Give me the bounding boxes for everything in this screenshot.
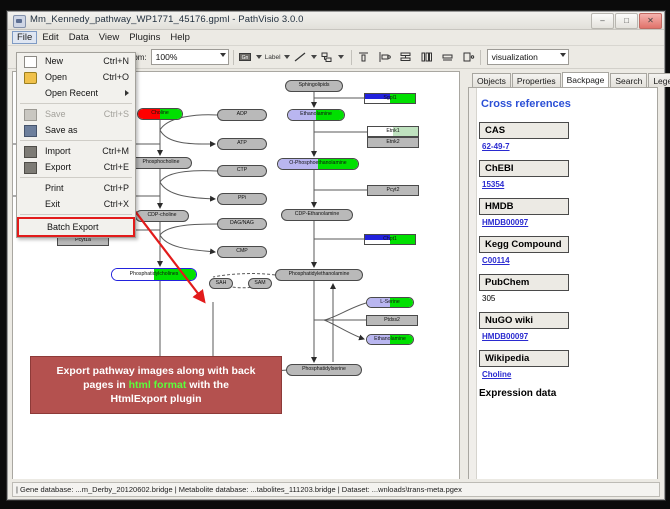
cross-reference-link[interactable]: 62-49-7 — [482, 142, 653, 151]
file-menu-accelerator: Ctrl+O — [103, 72, 129, 82]
cross-reference-row: Kegg CompoundC00114 — [479, 236, 653, 265]
file-menu-new[interactable]: NewCtrl+N — [17, 53, 135, 69]
zoom-value: 100% — [156, 52, 178, 62]
import-icon — [24, 146, 37, 158]
menu-separator — [20, 214, 132, 215]
file-menu-label: Import — [45, 146, 71, 156]
file-menu-label: Print — [45, 183, 64, 193]
cross-reference-row: WikipediaCholine — [479, 350, 653, 379]
file-menu-label: Save — [45, 109, 66, 119]
file-menu-label: Save as — [45, 125, 78, 135]
file-menu-export[interactable]: ExportCtrl+E — [17, 159, 135, 175]
side-panel-tabs: ObjectsPropertiesBackpageSearchLegend — [462, 71, 659, 87]
cross-reference-value: 305 — [482, 294, 653, 303]
file-menu-accelerator: Ctrl+N — [103, 56, 129, 66]
distribute-icon[interactable] — [419, 50, 434, 65]
save-icon — [24, 109, 37, 121]
window-title: Mm_Kennedy_pathway_WP1771_45176.gpml - P… — [30, 14, 304, 25]
cross-reference-row: NuGO wikiHMDB00097 — [479, 312, 653, 341]
app-icon — [13, 15, 26, 28]
file-menu-label: Export — [45, 162, 71, 172]
toolbar-separator — [233, 50, 234, 65]
svg-text:Gn: Gn — [242, 55, 249, 61]
file-menu-save[interactable]: SaveCtrl+S — [17, 106, 135, 122]
file-menu-open-recent[interactable]: Open Recent — [17, 85, 135, 101]
menu-item-view[interactable]: View — [94, 31, 124, 44]
toolbar-separator-2 — [351, 50, 352, 65]
chevron-right-icon — [125, 90, 129, 96]
zoom-combobox[interactable]: 100% — [151, 49, 229, 65]
file-menu-label: New — [45, 56, 63, 66]
menu-item-data[interactable]: Data — [64, 31, 94, 44]
tab-objects[interactable]: Objects — [472, 73, 511, 87]
file-menu-import[interactable]: ImportCtrl+M — [17, 143, 135, 159]
menu-item-help[interactable]: Help — [165, 31, 195, 44]
save-as-icon — [24, 125, 37, 137]
cross-reference-source: Kegg Compound — [479, 236, 569, 253]
cross-reference-link[interactable]: 15354 — [482, 180, 653, 189]
cross-reference-source: ChEBI — [479, 160, 569, 177]
close-icon: ✕ — [640, 17, 661, 25]
expression-data-heading: Expression data — [479, 388, 653, 399]
cross-reference-link[interactable]: Choline — [482, 370, 653, 379]
cross-reference-row: HMDBHMDB00097 — [479, 198, 653, 227]
file-menu-accelerator: Ctrl+S — [104, 109, 129, 119]
label-tool-label[interactable]: Label — [265, 54, 281, 61]
pathvisio-window: Mm_Kennedy_pathway_WP1771_45176.gpml - P… — [7, 11, 665, 500]
title-bar: Mm_Kennedy_pathway_WP1771_45176.gpml - P… — [8, 12, 664, 30]
backpage-content[interactable]: Cross references CAS62-49-7ChEBI15354HMD… — [468, 87, 658, 489]
align-top-icon[interactable] — [356, 50, 371, 65]
cross-references-heading: Cross references — [481, 98, 653, 110]
new-document-icon — [24, 56, 37, 68]
export-icon — [24, 162, 37, 174]
file-menu-print[interactable]: PrintCtrl+P — [17, 180, 135, 196]
cross-reference-row: CAS62-49-7 — [479, 122, 653, 151]
backpage-scrollbar[interactable] — [469, 88, 477, 488]
cross-reference-row: PubChem305 — [479, 274, 653, 303]
visualization-value: visualization — [492, 52, 538, 62]
datanode-dropdown-icon[interactable] — [256, 55, 262, 59]
stack-icon[interactable] — [398, 50, 413, 65]
label-dropdown-icon[interactable] — [284, 55, 290, 59]
menu-item-plugins[interactable]: Plugins — [124, 31, 165, 44]
interaction-dropdown-icon[interactable] — [338, 55, 344, 59]
file-menu-label: Open — [45, 72, 67, 82]
cross-references-list: CAS62-49-7ChEBI15354HMDBHMDB00097Kegg Co… — [479, 122, 653, 379]
file-menu-accelerator: Ctrl+P — [104, 183, 129, 193]
cross-reference-source: HMDB — [479, 198, 569, 215]
chevron-down-icon-2 — [560, 53, 566, 57]
cross-reference-link[interactable]: C00114 — [482, 256, 653, 265]
menu-separator — [20, 140, 132, 141]
file-menu-popup[interactable]: NewCtrl+NOpenCtrl+OOpen RecentSaveCtrl+S… — [16, 52, 136, 238]
maximize-icon: □ — [616, 17, 637, 25]
visualization-combobox[interactable]: visualization — [487, 49, 569, 65]
window-controls: – □ ✕ — [591, 13, 662, 29]
maximize-button[interactable]: □ — [615, 13, 638, 29]
file-menu-save-as[interactable]: Save as — [17, 122, 135, 138]
menu-item-file[interactable]: File — [12, 31, 37, 44]
file-menu-batch-export[interactable]: Batch Export — [17, 217, 135, 237]
line-dropdown-icon[interactable] — [311, 55, 317, 59]
align-left-icon[interactable] — [377, 50, 392, 65]
cross-reference-source: NuGO wiki — [479, 312, 569, 329]
minimize-button[interactable]: – — [591, 13, 614, 29]
file-menu-label: Batch Export — [47, 222, 99, 232]
file-menu-exit[interactable]: ExitCtrl+X — [17, 196, 135, 212]
tab-search[interactable]: Search — [610, 73, 647, 87]
chevron-down-icon — [220, 53, 226, 57]
datanode-icon[interactable]: Gn — [238, 50, 253, 65]
tab-properties[interactable]: Properties — [512, 73, 561, 87]
screen: Mm_Kennedy_pathway_WP1771_45176.gpml - P… — [0, 0, 670, 509]
toolbar-separator-3 — [480, 50, 481, 65]
cross-reference-source: CAS — [479, 122, 569, 139]
close-button[interactable]: ✕ — [639, 13, 662, 29]
line-icon[interactable] — [293, 50, 308, 65]
cross-reference-row: ChEBI15354 — [479, 160, 653, 189]
file-menu-accelerator: Ctrl+X — [104, 199, 129, 209]
file-menu-accelerator: Ctrl+M — [102, 146, 129, 156]
order-icon[interactable] — [461, 50, 476, 65]
interaction-icon[interactable] — [320, 50, 335, 65]
menu-separator — [20, 103, 132, 104]
group-icon[interactable] — [440, 50, 455, 65]
menu-item-edit[interactable]: Edit — [37, 31, 63, 44]
cross-reference-source: Wikipedia — [479, 350, 569, 367]
minimize-icon: – — [592, 17, 613, 25]
cross-reference-link[interactable]: HMDB00097 — [482, 332, 653, 341]
file-menu-label: Exit — [45, 199, 60, 209]
file-menu-open[interactable]: OpenCtrl+O — [17, 69, 135, 85]
menu-separator — [20, 177, 132, 178]
file-menu-label: Open Recent — [45, 88, 98, 98]
cross-reference-link[interactable]: HMDB00097 — [482, 218, 653, 227]
side-panel: ObjectsPropertiesBackpageSearchLegend Cr… — [462, 71, 659, 489]
cross-reference-source: PubChem — [479, 274, 569, 291]
open-folder-icon — [24, 72, 37, 84]
file-menu-accelerator: Ctrl+E — [104, 162, 129, 172]
menu-bar: FileEditDataViewPluginsHelp — [8, 30, 664, 46]
tab-backpage[interactable]: Backpage — [562, 72, 610, 87]
tab-legend[interactable]: Legend — [648, 73, 670, 87]
